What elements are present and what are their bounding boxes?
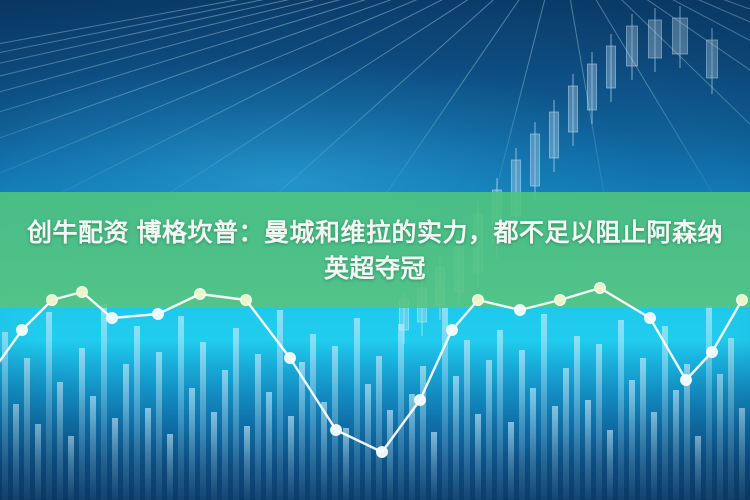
headline-line-1: 创牛配资 博格坎普：曼城和维拉的实力，都不足以阻止阿森纳 <box>27 215 723 251</box>
headline-line-2: 英超夺冠 <box>324 251 426 287</box>
banner-image: 创牛配资 博格坎普：曼城和维拉的实力，都不足以阻止阿森纳 英超夺冠 <box>0 0 750 500</box>
headline-text: 创牛配资 博格坎普：曼城和维拉的实力，都不足以阻止阿森纳 英超夺冠 <box>0 196 750 306</box>
